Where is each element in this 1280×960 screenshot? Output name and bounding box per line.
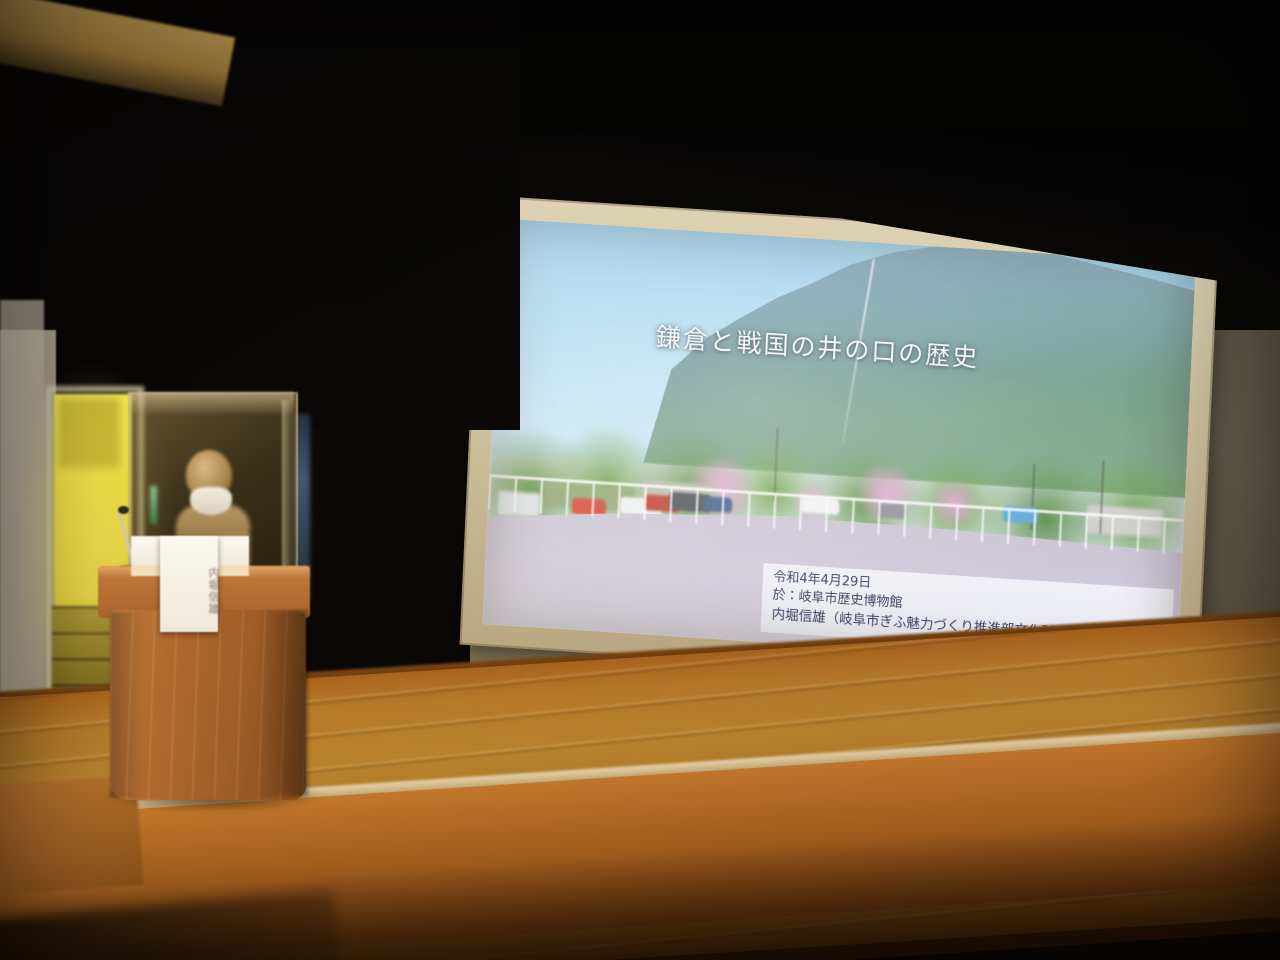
podium-name-sign-text: 内堀信雄 bbox=[160, 552, 218, 630]
doorway-inner-shadow bbox=[58, 398, 120, 468]
podium-left-facet bbox=[110, 612, 144, 798]
acrylic-shield-top-edge bbox=[128, 392, 294, 414]
projection-screen: 鎌倉と戦国の井の口の歴史 令和4年4月29日 於：岐阜市歴史博物館 内堀信雄（岐… bbox=[460, 195, 1219, 692]
presenter-face-mask bbox=[190, 487, 232, 515]
podium-name-sign: 内堀信雄 bbox=[160, 536, 218, 632]
green-indicator-light bbox=[150, 486, 157, 524]
podium-right-facet bbox=[258, 610, 308, 796]
microphone-head bbox=[118, 506, 129, 514]
lecture-hall-scene: 鎌倉と戦国の井の口の歴史 令和4年4月29日 於：岐阜市歴史博物館 内堀信雄（岐… bbox=[0, 0, 1280, 960]
projected-slide: 鎌倉と戦国の井の口の歴史 令和4年4月29日 於：岐阜市歴史博物館 内堀信雄（岐… bbox=[483, 218, 1196, 669]
